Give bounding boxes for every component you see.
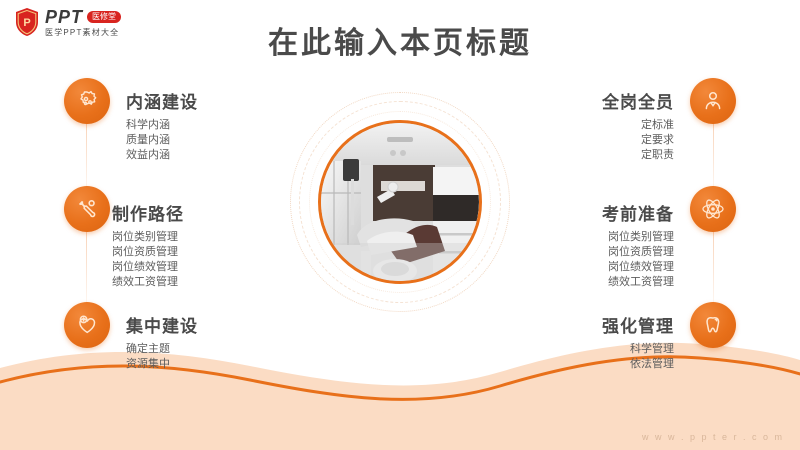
feature-title: 强化管理 — [602, 312, 674, 337]
shield-icon: P — [14, 7, 40, 37]
feature-line: 确定主题 — [126, 342, 170, 357]
feature-line: 岗位绩效管理 — [608, 260, 674, 275]
feature-line: 绩效工资管理 — [112, 275, 178, 290]
feature-title: 考前准备 — [602, 200, 674, 225]
feature-lines: 定标准 定要求 定职责 — [641, 118, 674, 163]
doctor-person-icon[interactable] — [690, 78, 736, 124]
bottom-wave-decoration — [0, 310, 800, 450]
tooth-plus-icon[interactable] — [690, 302, 736, 348]
feature-title: 制作路径 — [112, 200, 184, 225]
virus-cell-icon[interactable] — [64, 78, 110, 124]
feature-line: 质量内涵 — [126, 133, 170, 148]
feature-title: 集中建设 — [126, 312, 198, 337]
feature-lines: 科学内涵 质量内涵 效益内涵 — [126, 118, 170, 163]
feature-line: 绩效工资管理 — [608, 275, 674, 290]
feature-lines: 科学管理 依法管理 — [630, 342, 674, 372]
feature-lines: 岗位类别管理 岗位资质管理 岗位绩效管理 绩效工资管理 — [608, 230, 674, 290]
logo-badge: 医修堂 — [87, 11, 121, 23]
center-photo-group — [318, 120, 482, 284]
logo-text-block: PPT 医修堂 医学PPT素材大全 — [45, 8, 121, 37]
feature-line: 效益内涵 — [126, 148, 170, 163]
feature-line: 科学管理 — [630, 342, 674, 357]
atom-molecule-icon[interactable] — [690, 186, 736, 232]
slide-canvas: P PPT 医修堂 医学PPT素材大全 在此输入本页标题 — [0, 0, 800, 450]
feature-line: 岗位类别管理 — [608, 230, 674, 245]
site-logo[interactable]: P PPT 医修堂 医学PPT素材大全 — [14, 7, 121, 37]
feature-line: 定职责 — [641, 148, 674, 163]
feature-lines: 确定主题 资源集中 — [126, 342, 170, 372]
feature-line: 依法管理 — [630, 357, 674, 372]
dental-clinic-photo — [321, 123, 479, 281]
feature-line: 定标准 — [641, 118, 674, 133]
feature-title: 全岗全员 — [602, 88, 674, 113]
feature-lines: 岗位类别管理 岗位资质管理 岗位绩效管理 绩效工资管理 — [112, 230, 178, 290]
center-photo-ring — [318, 120, 482, 284]
footer-url: w w w . p p t e r . c o m — [642, 432, 784, 442]
feature-line: 定要求 — [641, 133, 674, 148]
feature-line: 岗位类别管理 — [112, 230, 178, 245]
heart-plus-icon[interactable] — [64, 302, 110, 348]
feature-title: 内涵建设 — [126, 88, 198, 113]
feature-line: 岗位资质管理 — [608, 245, 674, 260]
feature-line: 岗位绩效管理 — [112, 260, 178, 275]
feature-line: 科学内涵 — [126, 118, 170, 133]
logo-brand: PPT — [45, 8, 83, 26]
wrench-icon[interactable] — [64, 186, 110, 232]
logo-subtitle: 医学PPT素材大全 — [45, 29, 121, 37]
feature-line: 资源集中 — [126, 357, 170, 372]
feature-line: 岗位资质管理 — [112, 245, 178, 260]
shield-letter: P — [23, 17, 30, 29]
